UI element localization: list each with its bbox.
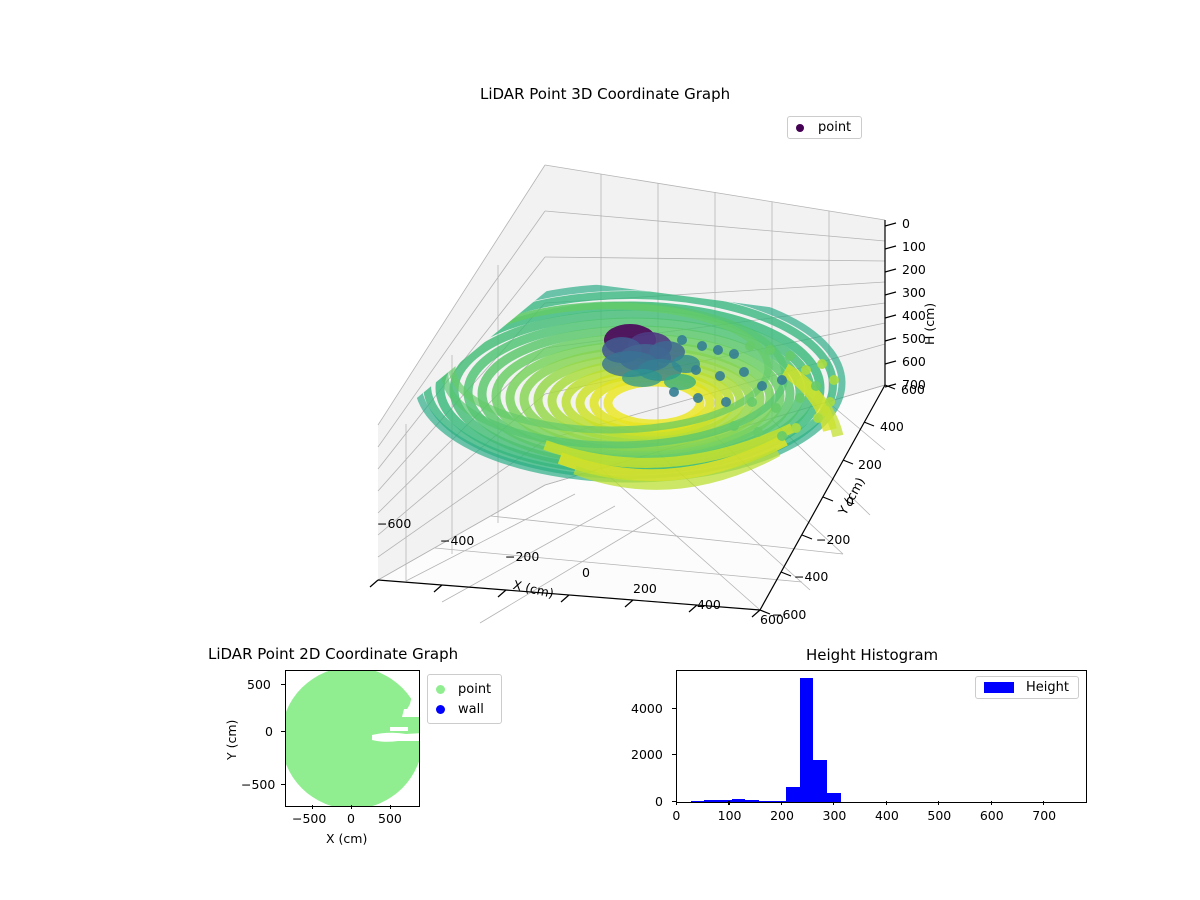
- tick-3d-x-0: −600: [377, 516, 411, 531]
- matplotlib-figure: LiDAR Point 3D Coordinate Graph point: [0, 0, 1200, 900]
- tick-hist-x-3: 300: [823, 808, 847, 823]
- legend-hist-height-label: Height: [1026, 680, 1069, 695]
- tick-hist-y-1: 2000: [631, 747, 663, 762]
- histogram-bar: [813, 760, 827, 802]
- tick-2d-y-2: −500: [241, 777, 275, 792]
- tick-hist-x-7: 700: [1032, 808, 1056, 823]
- tick-2d-x-2: 500: [378, 811, 402, 826]
- legend-3d-point-label: point: [818, 120, 851, 135]
- histogram-bar: [786, 787, 800, 802]
- axis-label-2d-x: X (cm): [326, 831, 367, 846]
- tick-3d-x-1: −400: [440, 533, 474, 548]
- point-cloud-2d: [286, 671, 419, 806]
- tick-3d-z-3: 300: [902, 285, 926, 300]
- tick-mark-hist-x-6: [991, 801, 992, 805]
- tick-2d-x-0: −500: [292, 811, 326, 826]
- tick-mark-2d-y-1: [281, 731, 285, 732]
- tick-hist-x-2: 200: [770, 808, 794, 823]
- tick-3d-x-5: 400: [697, 597, 721, 612]
- tick-hist-x-4: 400: [875, 808, 899, 823]
- legend-2d-wall-label: wall: [458, 702, 484, 717]
- tick-2d-x-1: 0: [347, 811, 355, 826]
- histogram-bar: [691, 801, 705, 802]
- tick-2d-y-0: 500: [247, 677, 271, 692]
- tick-mark-hist-x-0: [676, 801, 677, 805]
- tick-hist-x-5: 500: [927, 808, 951, 823]
- tick-mark-hist-x-3: [833, 801, 834, 805]
- tick-hist-x-0: 0: [672, 808, 680, 823]
- tick-mark-hist-x-1: [728, 801, 729, 805]
- tick-3d-z-1: 100: [902, 239, 926, 254]
- histogram-bar: [732, 799, 746, 802]
- tick-mark-2d-x-2: [390, 805, 391, 809]
- tick-3d-z-0: 0: [902, 216, 910, 231]
- histogram-bar: [745, 800, 759, 802]
- tick-mark-hist-x-4: [886, 801, 887, 805]
- tick-3d-y-1: −400: [794, 569, 828, 584]
- tick-mark-2d-y-0: [281, 684, 285, 685]
- tick-mark-hist-y-2: [672, 708, 676, 709]
- legend-2d-point-marker: [436, 685, 445, 694]
- tick-3d-x-2: −200: [505, 549, 539, 564]
- tick-3d-z-7: 700: [902, 377, 926, 392]
- tick-3d-x-3: 0: [582, 565, 590, 580]
- histogram-bar: [800, 678, 814, 802]
- tick-hist-x-1: 100: [718, 808, 742, 823]
- tick-3d-x-4: 200: [633, 581, 657, 596]
- tick-mark-hist-x-7: [1043, 801, 1044, 805]
- tick-mark-hist-y-1: [672, 754, 676, 755]
- tick-2d-y-1: 0: [265, 724, 273, 739]
- legend-2d-point-label: point: [458, 682, 491, 697]
- legend-3d-point-marker: [796, 124, 804, 132]
- panel-hist-title: Height Histogram: [806, 646, 938, 664]
- tick-mark-hist-x-2: [781, 801, 782, 805]
- legend-3d[interactable]: point: [787, 116, 862, 139]
- legend-2d[interactable]: point wall: [427, 674, 502, 724]
- tick-mark-hist-x-5: [938, 801, 939, 805]
- histogram-bar: [772, 801, 786, 802]
- tick-mark-2d-y-2: [281, 784, 285, 785]
- tick-hist-y-2: 4000: [631, 701, 663, 716]
- tick-3d-y-4: 200: [858, 457, 882, 472]
- tick-3d-z-2: 200: [902, 262, 926, 277]
- tick-3d-y-0: −600: [772, 607, 806, 622]
- axes-2d[interactable]: [285, 670, 420, 807]
- histogram-bar: [704, 800, 718, 802]
- tick-mark-2d-x-1: [351, 805, 352, 809]
- axes-3d[interactable]: −600 −400 −200 0 200 400 600 X (cm) −600…: [330, 140, 930, 630]
- legend-2d-entry-wall[interactable]: wall: [436, 699, 491, 719]
- axis-label-2d-y: Y (cm): [224, 720, 239, 760]
- tick-3d-z-6: 600: [902, 354, 926, 369]
- tick-3d-y-5: 400: [880, 419, 904, 434]
- legend-2d-entry-point[interactable]: point: [436, 679, 491, 699]
- tick-3d-y-2: −200: [816, 532, 850, 547]
- tick-hist-y-0: 0: [655, 794, 663, 809]
- panel-3d-title: LiDAR Point 3D Coordinate Graph: [480, 85, 730, 103]
- panel-2d-title: LiDAR Point 2D Coordinate Graph: [208, 645, 458, 663]
- legend-hist-height-swatch: [984, 682, 1014, 693]
- legend-hist[interactable]: Height: [975, 676, 1079, 699]
- histogram-bar: [759, 801, 773, 802]
- axis-label-3d-z: H (cm): [922, 303, 937, 345]
- legend-2d-wall-marker: [436, 705, 445, 714]
- tick-hist-x-6: 600: [980, 808, 1004, 823]
- tick-mark-2d-x-0: [312, 805, 313, 809]
